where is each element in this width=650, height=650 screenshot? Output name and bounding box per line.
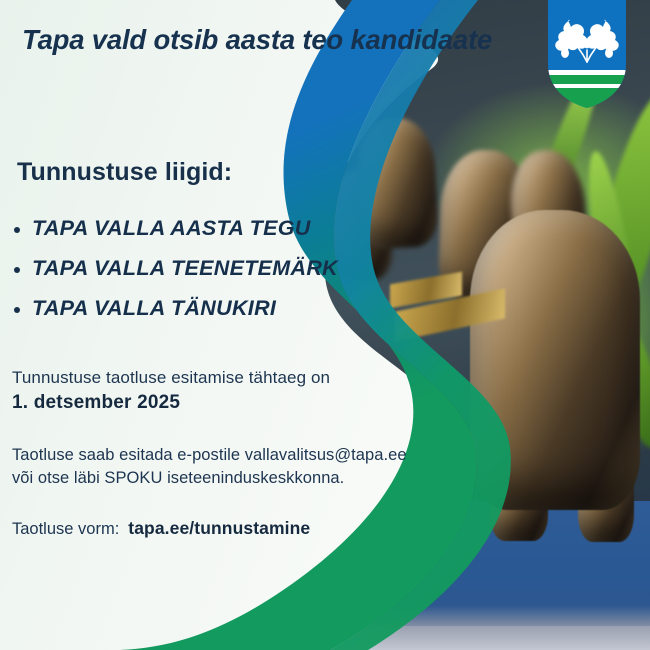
list-item: TAPA VALLA TÄNUKIRI <box>10 296 338 321</box>
kinds-heading: Tunnustuse liigid: <box>17 158 232 187</box>
deadline-block: Tunnustuse taotluse esitamise tähtaeg on… <box>12 368 330 414</box>
form-url-link[interactable]: tapa.ee/tunnustamine <box>128 518 310 539</box>
contact-line-spoku: või otse läbi SPOKU iseteeninduskeskkonn… <box>12 467 407 490</box>
form-label: Taotluse vorm: <box>12 520 119 539</box>
list-item: TAPA VALLA AASTA TEGU <box>10 216 338 241</box>
deadline-lead-text: Tunnustuse taotluse esitamise tähtaeg on <box>12 368 330 388</box>
contact-line-email: Taotluse saab esitada e-postile vallaval… <box>12 444 407 467</box>
page-title: Tapa vald otsib aasta teo kandidaate <box>22 24 542 56</box>
tapa-coat-of-arms-icon <box>548 0 626 108</box>
award-statuette-main <box>470 210 640 510</box>
list-item: TAPA VALLA TEENETEMÄRK <box>10 256 338 281</box>
poster-canvas: Tapa vald otsib aasta teo kandidaate Tun… <box>0 0 650 650</box>
kinds-list: TAPA VALLA AASTA TEGU TAPA VALLA TEENETE… <box>10 216 338 336</box>
contact-block: Taotluse saab esitada e-postile vallaval… <box>12 444 407 491</box>
form-block: Taotluse vorm: tapa.ee/tunnustamine <box>12 518 310 539</box>
deadline-date: 1. detsember 2025 <box>12 392 330 414</box>
